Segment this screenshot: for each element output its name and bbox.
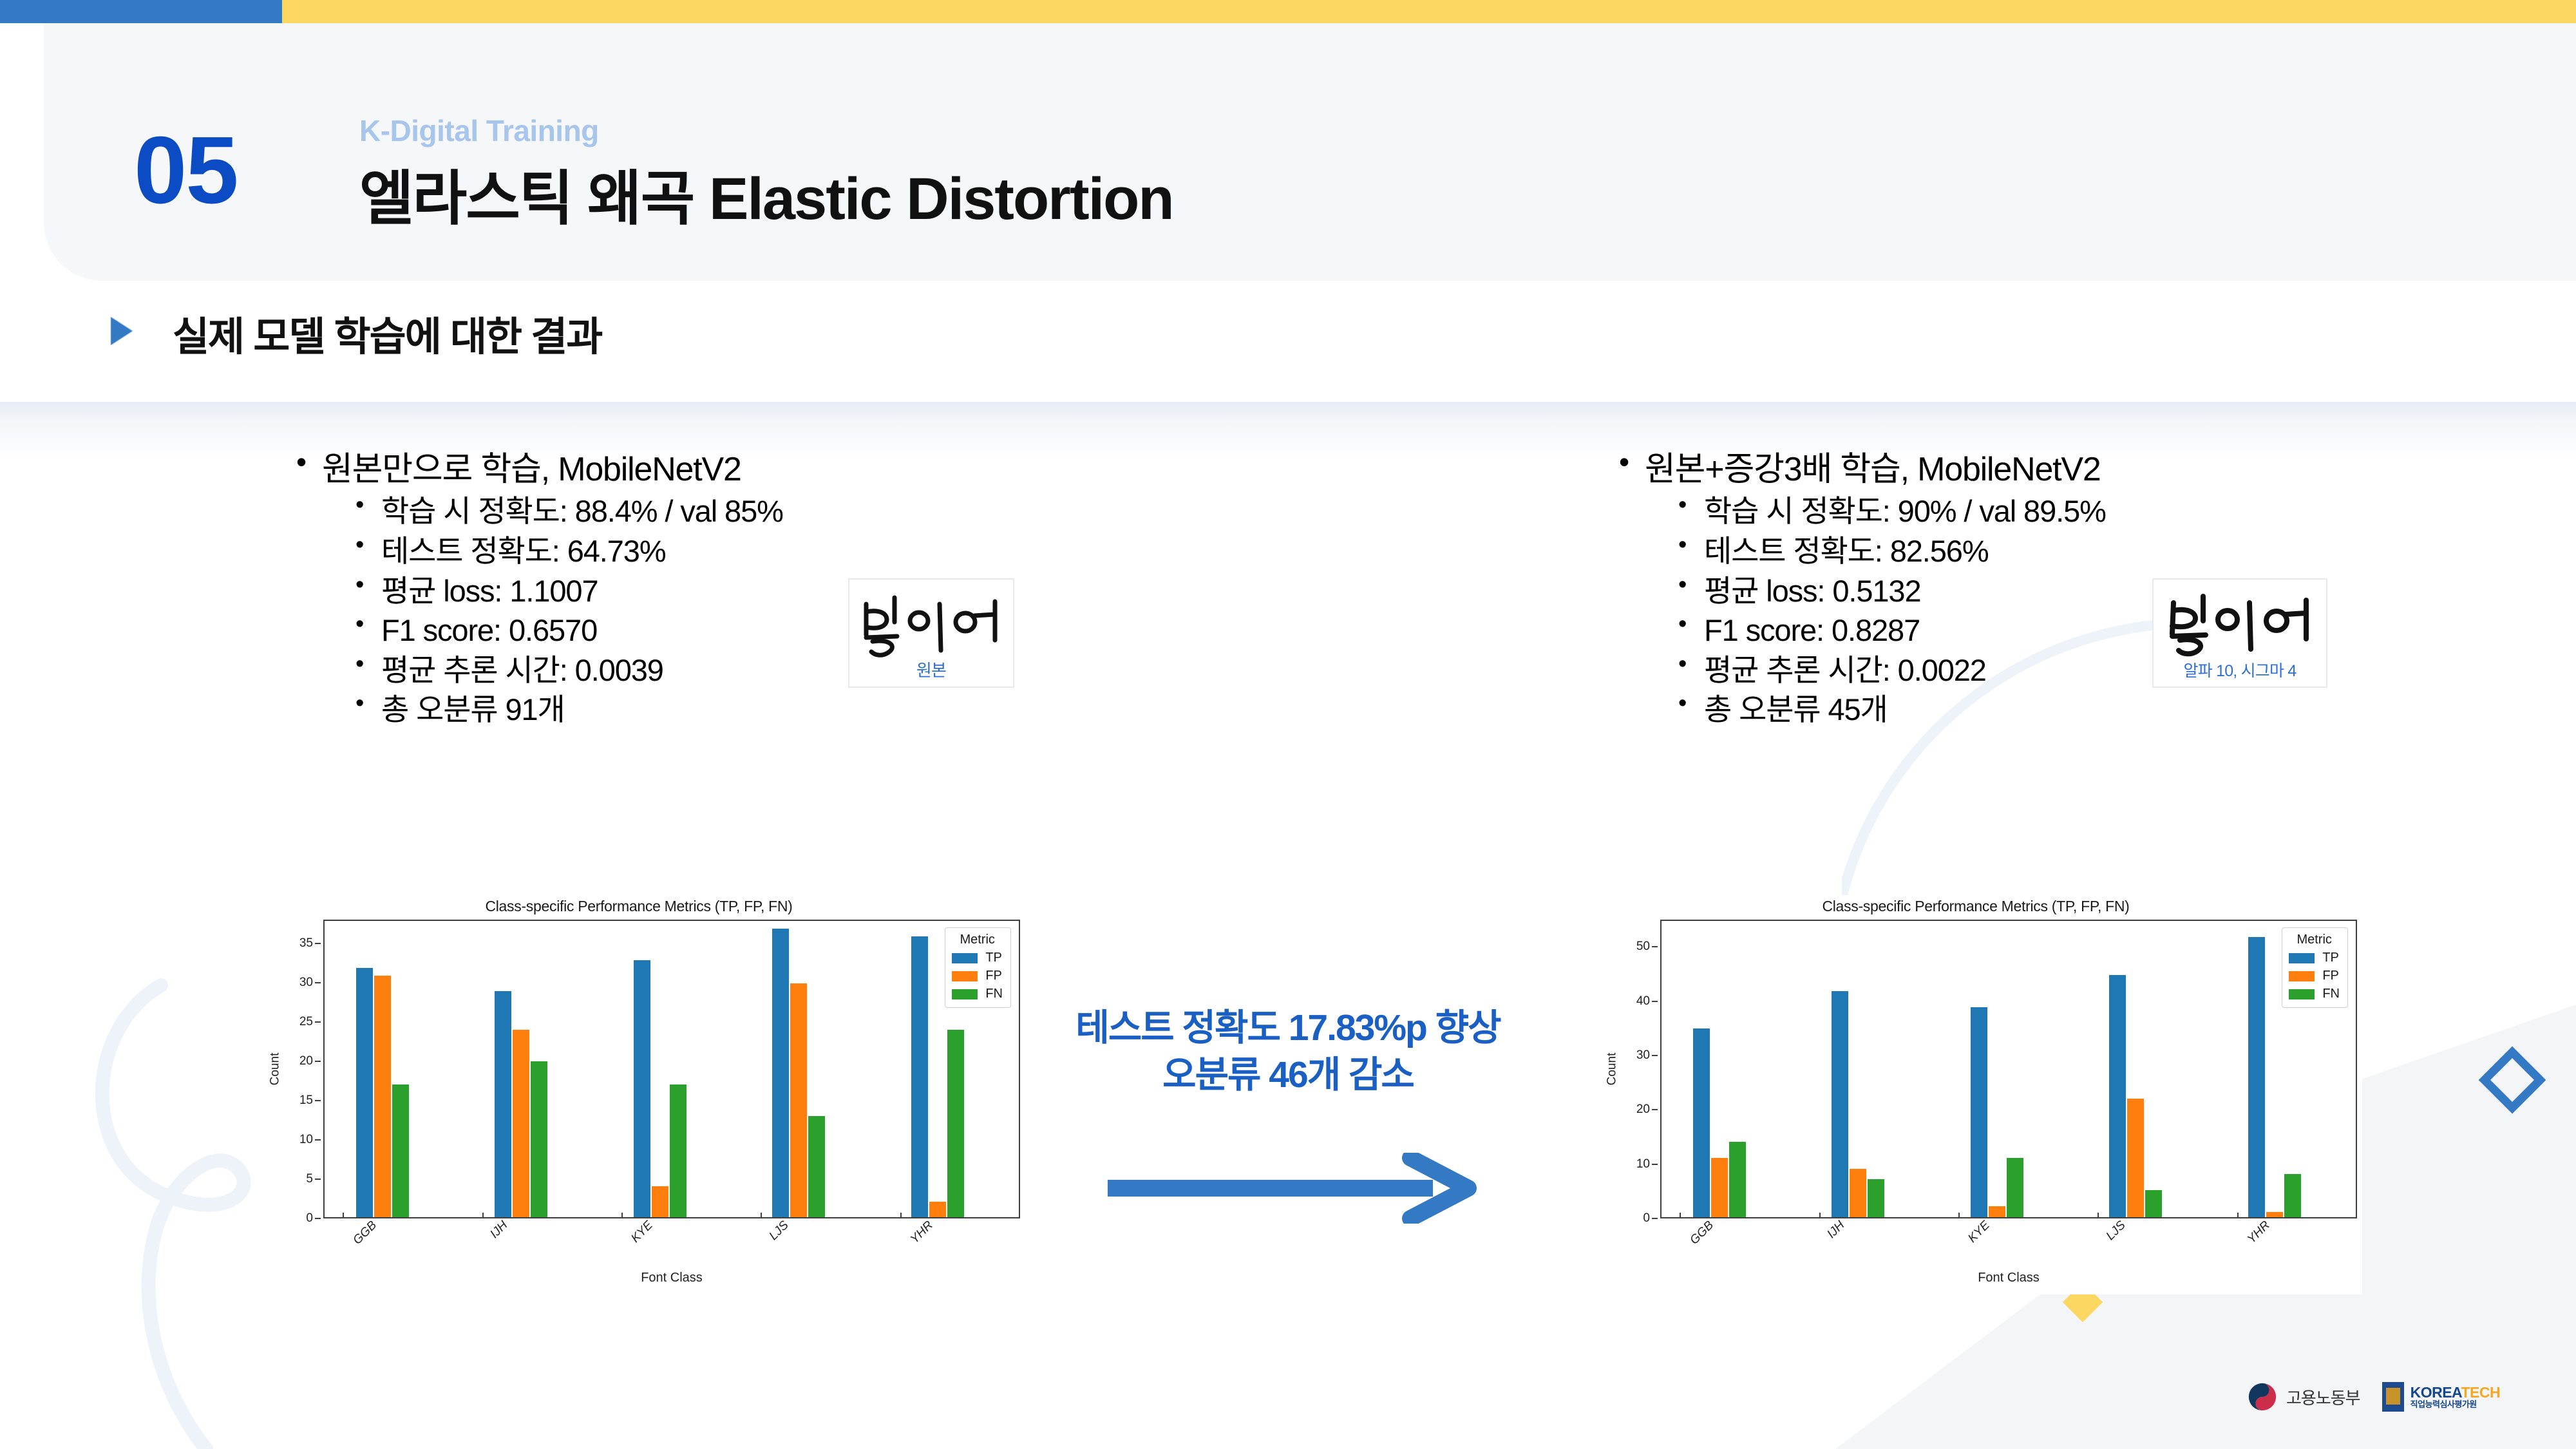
chart-y-axis-label: Count	[1605, 1053, 1619, 1086]
chart-y-tick: 50	[1636, 940, 1650, 954]
chart-bar-tp	[772, 929, 789, 1217]
chart-title: Class-specific Performance Metrics (TP, …	[1589, 898, 2362, 915]
legend-swatch	[952, 953, 978, 963]
chart-plot-area: Metric TPFPFN	[323, 920, 1020, 1218]
list-item: 평균 loss: 0.5132	[1645, 574, 2448, 609]
chart-y-tick: 20	[1636, 1103, 1650, 1117]
chart-bar-fp	[2266, 1212, 2283, 1217]
chart-bar-fp	[929, 1202, 946, 1217]
list-item: 평균 추론 시간: 0.0022	[1645, 654, 2448, 688]
right-metric-f1: F1 score: 0.8287	[1704, 614, 2448, 648]
legend-swatch	[2289, 989, 2315, 999]
chart-x-ticks: GGBIJHKYELJSYHR	[323, 1218, 1020, 1256]
list-item: 총 오분류 91개	[322, 693, 1126, 727]
legend-item: FN	[2289, 987, 2340, 1001]
chart-bar-tp	[634, 960, 650, 1217]
chart-x-tick-mark	[1958, 1213, 1960, 1218]
legend-rows: TPFPFN	[2289, 951, 2340, 1001]
chart-y-axis-label: Count	[268, 1053, 282, 1086]
chart-bar-group	[2078, 921, 2217, 1217]
left-metric-train-acc: 학습 시 정확도: 88.4% / val 85%	[381, 495, 1126, 529]
right-sample-caption: 알파 10, 시그마 4	[2184, 658, 2297, 687]
chart-bar-fp	[2127, 1099, 2144, 1217]
chart-y-axis: Count 05101520253035	[252, 920, 322, 1218]
arrow-right-icon	[1108, 1153, 1481, 1224]
left-metric-test-acc: 테스트 정확도: 64.73%	[381, 535, 1126, 569]
chart-y-tick: 20	[299, 1054, 313, 1068]
right-chart: Class-specific Performance Metrics (TP, …	[1589, 895, 2362, 1294]
legend-item: TP	[2289, 951, 2340, 965]
left-chart: Class-specific Performance Metrics (TP, …	[252, 895, 1025, 1294]
handwriting-image	[2163, 585, 2316, 661]
list-item: 테스트 정확도: 82.56%	[1645, 535, 2448, 569]
legend-label: FN	[985, 987, 1003, 1001]
chart-x-tick: LJS	[767, 1218, 792, 1244]
chart-y-tick: 25	[299, 1015, 313, 1029]
left-sample-caption: 원본	[916, 658, 946, 687]
shield-icon	[2382, 1382, 2404, 1412]
legend-label: TP	[985, 951, 1002, 965]
handwriting-image	[857, 585, 1005, 662]
chart-x-tick: LJS	[2104, 1218, 2129, 1244]
chart-y-tick: 30	[299, 976, 313, 990]
chart-bar-group	[1801, 921, 1940, 1217]
chart-legend: Metric TPFPFN	[945, 927, 1011, 1008]
chart-bar-tp	[2109, 975, 2126, 1217]
list-item: 총 오분류 45개	[1645, 693, 2448, 727]
page-title: 엘라스틱 왜곡 Elastic Distortion	[359, 151, 1173, 236]
chart-bar-fn	[670, 1084, 687, 1217]
right-metric-inference: 평균 추론 시간: 0.0022	[1704, 654, 2448, 688]
left-heading: 원본만으로 학습, MobileNetV2	[322, 451, 1126, 489]
legend-swatch	[952, 989, 978, 999]
chart-bar-fn	[2284, 1174, 2301, 1217]
section-number: 05	[134, 123, 238, 218]
chart-legend: Metric TPFPFN	[2282, 927, 2348, 1008]
chart-x-tick-mark	[2237, 1213, 2239, 1218]
chart-x-tick-mark	[1819, 1213, 1821, 1218]
chart-x-tick: GGB	[351, 1218, 380, 1247]
callout-line-1: 테스트 정확도 17.83%p 향상	[1005, 1005, 1571, 1052]
slide-root: 05 K-Digital Training 엘라스틱 왜곡 Elastic Di…	[0, 0, 2576, 1449]
legend-label: FN	[2322, 987, 2340, 1001]
chart-x-tick-mark	[482, 1213, 484, 1218]
chart-bar-fn	[1729, 1142, 1746, 1217]
chart-title: Class-specific Performance Metrics (TP, …	[252, 898, 1025, 915]
chart-x-ticks: GGBIJHKYELJSYHR	[1660, 1218, 2357, 1256]
moel-label: 고용노동부	[2286, 1385, 2360, 1409]
chart-bar-fp	[513, 1030, 529, 1217]
legend-item: FP	[2289, 969, 2340, 983]
right-metric-errors: 총 오분류 45개	[1704, 693, 2448, 727]
chart-bar-group	[1662, 921, 1801, 1217]
left-metric-errors: 총 오분류 91개	[381, 693, 1126, 727]
chart-x-tick: YHR	[908, 1218, 936, 1247]
chart-x-tick-mark	[1680, 1213, 1681, 1218]
chart-x-tick: KYE	[629, 1218, 656, 1245]
triangle-right-icon	[111, 317, 133, 345]
chart-bar-group	[602, 921, 741, 1217]
chart-x-tick-mark	[343, 1213, 344, 1218]
chart-bar-fn	[1868, 1179, 1884, 1217]
chart-bar-fp	[790, 983, 807, 1217]
chart-bar-fn	[947, 1030, 964, 1217]
chart-bar-group	[1939, 921, 2078, 1217]
chart-bar-tp	[911, 936, 928, 1217]
chart-bar-fn	[2145, 1190, 2162, 1217]
chart-bar-tp	[2248, 937, 2265, 1217]
chart-bar-fp	[1850, 1169, 1866, 1217]
chart-x-tick: IJH	[488, 1218, 511, 1242]
chart-x-tick: YHR	[2245, 1218, 2273, 1247]
right-metric-test-acc: 테스트 정확도: 82.56%	[1704, 535, 2448, 569]
chart-bar-tp	[495, 991, 511, 1217]
chart-y-tick: 35	[299, 936, 313, 951]
chart-bar-fp	[374, 976, 391, 1217]
koreatech-wordmark: KOREATECH 직업능력심사평가원	[2410, 1385, 2500, 1409]
right-metric-train-acc: 학습 시 정확도: 90% / val 89.5%	[1704, 495, 2448, 529]
header-card: 05 K-Digital Training 엘라스틱 왜곡 Elastic Di…	[44, 23, 2576, 281]
list-item: 학습 시 정확도: 88.4% / val 85%	[322, 495, 1126, 529]
left-handwriting-sample-card: 원본	[848, 578, 1014, 688]
chart-bar-group	[464, 921, 603, 1217]
chart-bar-tp	[1693, 1028, 1710, 1217]
chart-bar-fn	[808, 1116, 825, 1217]
list-item: 학습 시 정확도: 90% / val 89.5%	[1645, 495, 2448, 529]
chart-bar-fp	[652, 1186, 668, 1217]
legend-label: TP	[2322, 951, 2339, 965]
chart-plot-area: Metric TPFPFN	[1660, 920, 2357, 1218]
chart-x-tick-mark	[2098, 1213, 2099, 1218]
chart-x-tick: KYE	[1965, 1218, 1993, 1245]
chart-x-tick-mark	[761, 1213, 762, 1218]
callout-line-2: 오분류 46개 감소	[1005, 1052, 1571, 1099]
footer-logos: 고용노동부 KOREATECH 직업능력심사평가원	[2248, 1382, 2500, 1412]
chart-y-axis: Count 01020304050	[1589, 920, 1659, 1218]
legend-title: Metric	[952, 933, 1003, 947]
chart-x-tick: GGB	[1688, 1218, 1717, 1247]
chart-bar-fn	[531, 1061, 547, 1217]
section-heading: 실제 모델 학습에 대한 결과	[173, 304, 601, 362]
legend-item: TP	[952, 951, 1003, 965]
right-heading: 원본+증강3배 학습, MobileNetV2	[1645, 451, 2448, 489]
chart-bar-group	[325, 921, 464, 1217]
chart-bar-tp	[1832, 991, 1848, 1217]
chart-bar-fn	[2007, 1158, 2023, 1217]
legend-title: Metric	[2289, 933, 2340, 947]
chart-bars	[1662, 921, 2356, 1217]
legend-item: FN	[952, 987, 1003, 1001]
chart-y-tick: 10	[1636, 1157, 1650, 1171]
chart-bar-fp	[1989, 1206, 2005, 1217]
koreatech-korea: KOREA	[2410, 1384, 2461, 1401]
chart-x-axis-label: Font Class	[323, 1271, 1020, 1285]
moel-logo: 고용노동부	[2248, 1382, 2360, 1412]
legend-swatch	[2289, 971, 2315, 981]
right-metric-loss: 평균 loss: 0.5132	[1704, 574, 2448, 609]
chart-bar-tp	[356, 968, 373, 1217]
chart-y-tick: 0	[1643, 1211, 1650, 1226]
legend-label: FP	[2322, 969, 2339, 983]
chart-y-tick: 10	[299, 1133, 313, 1147]
legend-swatch	[952, 971, 978, 981]
chart-bar-fp	[1711, 1158, 1728, 1217]
header-eyebrow: K-Digital Training	[359, 113, 599, 148]
right-handwriting-sample-card: 알파 10, 시그마 4	[2152, 578, 2327, 688]
chart-bar-fn	[392, 1084, 409, 1217]
chart-x-tick: IJH	[1824, 1218, 1848, 1242]
legend-rows: TPFPFN	[952, 951, 1003, 1001]
legend-label: FP	[985, 969, 1002, 983]
list-item: F1 score: 0.8287	[1645, 614, 2448, 648]
chart-y-tick: 40	[1636, 994, 1650, 1009]
chart-y-tick: 5	[306, 1172, 313, 1186]
chart-bar-tp	[1971, 1007, 1987, 1217]
topbar-blue-segment	[0, 0, 282, 23]
chart-x-tick-mark	[621, 1213, 623, 1218]
koreatech-tech: TECH	[2461, 1384, 2500, 1401]
chart-x-axis-label: Font Class	[1660, 1271, 2357, 1285]
koreatech-logo: KOREATECH 직업능력심사평가원	[2382, 1382, 2500, 1412]
chart-y-tick: 30	[1636, 1048, 1650, 1063]
chart-bar-group	[741, 921, 880, 1217]
koreatech-subtitle: 직업능력심사평가원	[2410, 1400, 2500, 1409]
chart-y-tick: 0	[306, 1211, 313, 1226]
improvement-callout: 테스트 정확도 17.83%p 향상 오분류 46개 감소	[1005, 1005, 1571, 1099]
list-item: 테스트 정확도: 64.73%	[322, 535, 1126, 569]
topbar-yellow-segment	[282, 0, 2576, 23]
legend-item: FP	[952, 969, 1003, 983]
taegeuk-icon	[2248, 1382, 2277, 1412]
chart-x-tick-mark	[900, 1213, 902, 1218]
chart-bars	[325, 921, 1019, 1217]
chart-y-tick: 15	[299, 1094, 313, 1108]
legend-swatch	[2289, 953, 2315, 963]
